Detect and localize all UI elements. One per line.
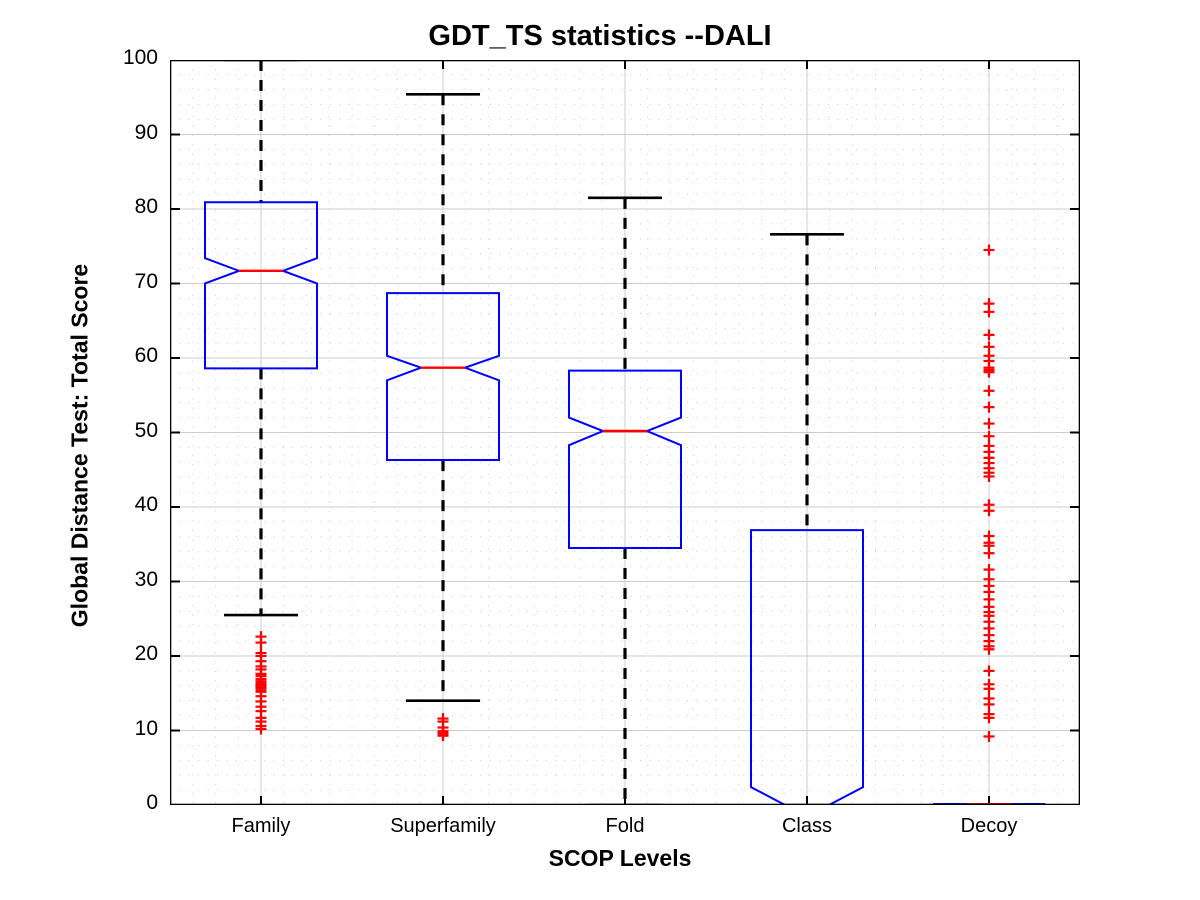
y-tick-label: 30 (98, 568, 158, 592)
boxplot-svg (170, 60, 1080, 805)
plot-area (170, 60, 1080, 805)
x-axis-label: SCOP Levels (140, 845, 1100, 872)
y-tick-label: 0 (98, 791, 158, 815)
y-tick-label: 90 (98, 121, 158, 145)
y-tick-label: 70 (98, 270, 158, 294)
y-tick-label: 10 (98, 717, 158, 741)
y-axis-label: Global Distance Test: Total Score (67, 166, 94, 726)
x-tick-label-family: Family (161, 815, 361, 838)
figure-canvas: GDT_TS statistics --DALI Global Distance… (0, 0, 1200, 900)
x-tick-label-class: Class (707, 815, 907, 838)
y-tick-label: 60 (98, 344, 158, 368)
chart-title: GDT_TS statistics --DALI (0, 20, 1200, 53)
x-tick-label-superfamily: Superfamily (343, 815, 543, 838)
y-tick-label: 40 (98, 493, 158, 517)
y-tick-label: 20 (98, 642, 158, 666)
x-tick-label-decoy: Decoy (889, 815, 1089, 838)
x-tick-label-fold: Fold (525, 815, 725, 838)
y-tick-label: 100 (98, 46, 158, 70)
y-tick-label: 50 (98, 419, 158, 443)
y-tick-label: 80 (98, 195, 158, 219)
